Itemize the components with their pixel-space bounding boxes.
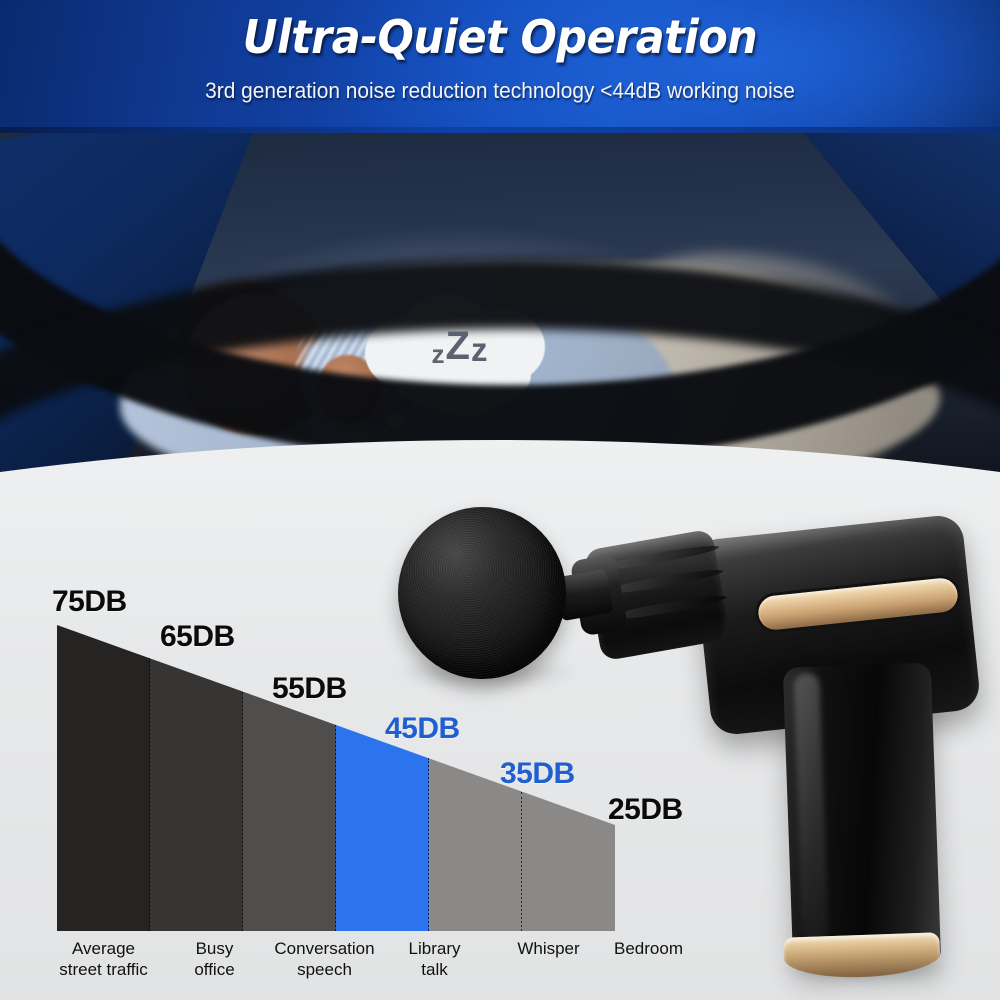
chart-bar	[57, 625, 150, 931]
chart-category-label: Averagestreet traffic	[39, 938, 169, 980]
chart-category-line: speech	[250, 959, 400, 980]
chart-value-label: 55DB	[272, 672, 347, 706]
chart-category-line: street traffic	[39, 959, 169, 980]
chart-category-label: Conversationspeech	[250, 938, 400, 980]
chart-bar	[150, 658, 243, 931]
chart-category-line: Average	[39, 938, 169, 959]
gun-foam-ball-head	[398, 507, 566, 679]
chart-value-label: 65DB	[160, 620, 235, 654]
chart-bar	[243, 692, 336, 931]
chart-value-label: 75DB	[52, 585, 127, 619]
promo-page: Ultra-Quiet Operation 3rd generation noi…	[0, 0, 1000, 1000]
massage-gun-product-image	[380, 495, 1000, 995]
chart-category-line: Conversation	[250, 938, 400, 959]
